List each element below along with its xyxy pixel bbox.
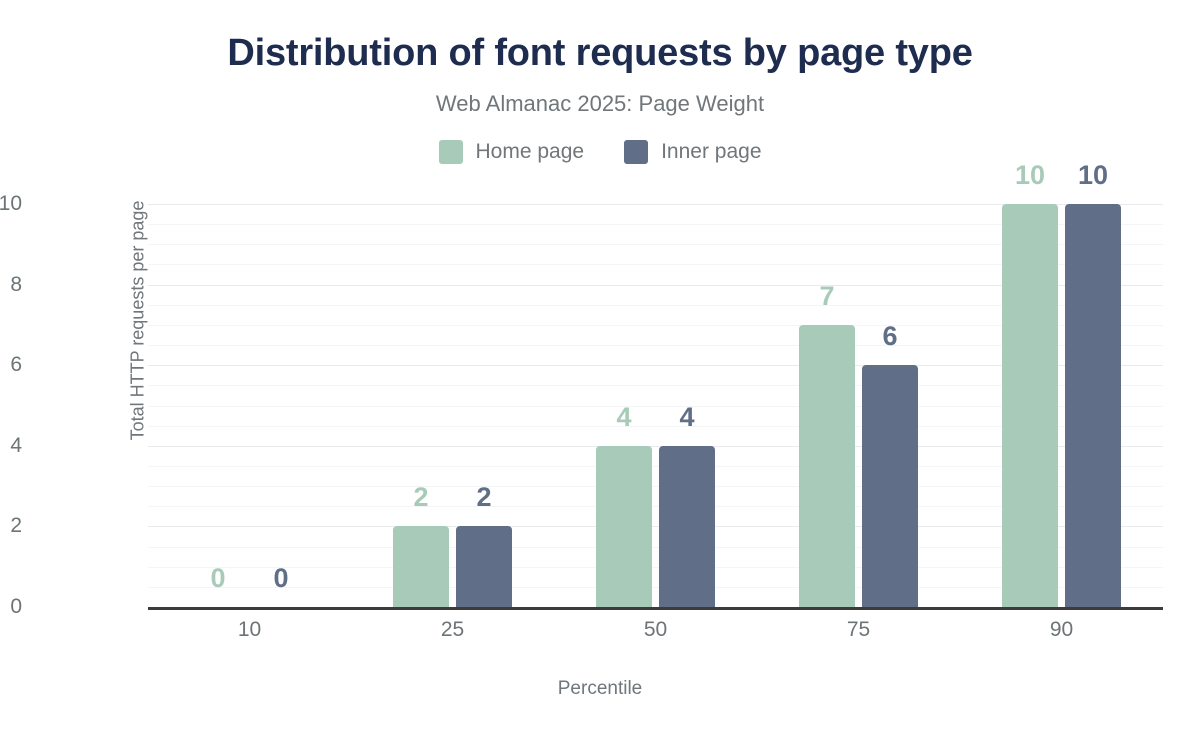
legend-item[interactable]: Inner page [624,140,761,164]
x-axis-title: Percentile [0,678,1200,700]
bar-value-label: 0 [253,563,309,593]
bar-value-label: 10 [1065,160,1121,190]
bar[interactable] [596,446,652,607]
bar[interactable] [1065,204,1121,607]
bar[interactable] [659,446,715,607]
bar-value-label: 7 [799,281,855,311]
bar-value-label: 0 [190,563,246,593]
y-axis-tick-label: 8 [0,274,22,295]
legend-label: Home page [476,140,585,164]
x-axis-line [148,607,1163,610]
chart-container: Distribution of font requests by page ty… [0,0,1200,742]
chart-title: Distribution of font requests by page ty… [0,30,1200,76]
bar-value-label: 6 [862,321,918,351]
bar-value-label: 4 [659,402,715,432]
bar[interactable] [1002,204,1058,607]
chart-subtitle: Web Almanac 2025: Page Weight [0,90,1200,118]
x-axis-tick-label: 90 [992,618,1132,642]
bar[interactable] [456,526,512,607]
x-axis-tick-label: 75 [789,618,929,642]
x-axis-tick-label: 25 [383,618,523,642]
bar-value-label: 4 [596,402,652,432]
bar[interactable] [862,365,918,607]
bar-value-label: 2 [456,482,512,512]
bar-value-label: 2 [393,482,449,512]
legend-label: Inner page [661,140,761,164]
legend-swatch-icon [439,140,463,164]
legend-swatch-icon [624,140,648,164]
x-axis-tick-label: 10 [180,618,320,642]
x-axis-tick-label: 50 [586,618,726,642]
plot-area: 002244761010 [148,204,1163,607]
y-axis-tick-label: 10 [0,193,22,214]
bar-value-label: 10 [1002,160,1058,190]
bar[interactable] [393,526,449,607]
y-axis-title: Total HTTP requests per page [128,161,149,481]
bars-layer: 002244761010 [148,204,1163,607]
y-axis-tick-label: 0 [0,596,22,617]
legend-item[interactable]: Home page [439,140,585,164]
bar[interactable] [799,325,855,607]
y-axis-tick-label: 6 [0,354,22,375]
y-axis-tick-label: 2 [0,515,22,536]
y-axis-tick-label: 4 [0,435,22,456]
